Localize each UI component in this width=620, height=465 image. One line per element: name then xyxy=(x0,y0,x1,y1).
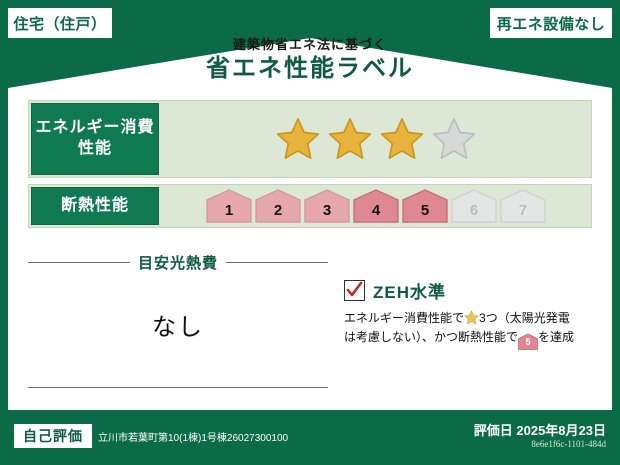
lower-section: 目安光熱費 なし ZEH水準 エネルギー消費性能で 3 xyxy=(28,252,592,400)
zeh-desc-part2: 3つ（太陽光発電 xyxy=(479,311,570,325)
insulation-grade-value: 2 xyxy=(274,202,282,223)
star-filled-icon xyxy=(275,116,321,162)
property-address: 立川市若葉町第10(1棟)1号棟26027300100 xyxy=(98,429,288,444)
performance-rows: エネルギー消費性能 断熱性能 1234567 xyxy=(28,100,592,234)
insulation-label: 断熱性能 xyxy=(31,187,159,225)
insulation-grade-value: 3 xyxy=(323,202,331,223)
renewable-equipment-badge: 再エネ設備なし xyxy=(490,8,612,38)
insulation-grade-scale: 1234567 xyxy=(161,185,591,227)
insulation-grade-4: 4 xyxy=(353,189,399,223)
utility-cost-title: 目安光熱費 xyxy=(138,252,218,273)
insulation-grade-value: 6 xyxy=(470,202,478,223)
zeh-checkbox[interactable] xyxy=(344,280,365,301)
star-filled-icon xyxy=(379,116,425,162)
insulation-grade-value: 4 xyxy=(372,202,380,223)
star-empty-icon xyxy=(431,116,477,162)
insulation-grade-2: 2 xyxy=(255,189,301,223)
house-grade-list: 1234567 xyxy=(206,189,546,223)
zeh-title: ZEH水準 xyxy=(373,278,446,303)
insulation-grade-value: 7 xyxy=(519,202,527,223)
insulation-grade-value: 1 xyxy=(225,202,233,223)
insulation-grade-7: 7 xyxy=(500,189,546,223)
zeh-description: エネルギー消費性能で 3つ（太陽光発電 は考慮しない）、かつ断熱性能で 5 を達… xyxy=(344,309,592,349)
insulation-row: 断熱性能 1234567 xyxy=(28,184,592,228)
energy-performance-label: 住宅（住戸） 再エネ設備なし 建築物省エネ法に基づく 省エネ性能ラベル エネルギ… xyxy=(0,0,620,465)
insulation-grade-6: 6 xyxy=(451,189,497,223)
zeh-title-row: ZEH水準 xyxy=(344,278,592,303)
energy-consumption-label: エネルギー消費性能 xyxy=(31,103,159,175)
inline-grade-value: 5 xyxy=(518,334,538,350)
utility-cost-bottom-rule xyxy=(28,387,328,388)
star-filled-icon xyxy=(327,116,373,162)
utility-cost-heading: 目安光熱費 xyxy=(28,252,328,273)
zeh-panel: ZEH水準 エネルギー消費性能で 3つ（太陽光発電 は考慮しない）、かつ断熱性能… xyxy=(328,252,592,400)
utility-cost-value: なし xyxy=(28,307,328,342)
insulation-grade-value: 5 xyxy=(421,202,429,223)
self-evaluation-badge: 自己評価 xyxy=(14,424,92,448)
label-footer: 自己評価 立川市若葉町第10(1棟)1号棟26027300100 評価日 202… xyxy=(0,410,620,465)
zeh-desc-part3: は考慮しない）、かつ断熱性能で xyxy=(344,330,518,344)
insulation-grade-1: 1 xyxy=(206,189,252,223)
building-type-badge: 住宅（住戸） xyxy=(8,8,112,38)
zeh-desc-part4: を達成 xyxy=(538,330,574,344)
document-code: 8e6e1f6c-1101-484d xyxy=(531,439,606,449)
evaluation-date: 評価日 2025年8月23日 xyxy=(474,420,606,439)
heading-rule-left xyxy=(28,262,130,263)
insulation-grade-3: 3 xyxy=(304,189,350,223)
star-list xyxy=(275,116,477,162)
inline-grade-badge: 5 xyxy=(518,334,538,349)
zeh-desc-part1: エネルギー消費性能で xyxy=(344,311,464,325)
inline-star-icon xyxy=(464,310,479,325)
energy-star-rating xyxy=(161,101,591,177)
insulation-grade-5: 5 xyxy=(402,189,448,223)
check-icon xyxy=(346,281,363,299)
utility-cost-panel: 目安光熱費 なし xyxy=(28,252,328,400)
energy-consumption-row: エネルギー消費性能 xyxy=(28,100,592,178)
heading-rule-right xyxy=(226,262,328,263)
